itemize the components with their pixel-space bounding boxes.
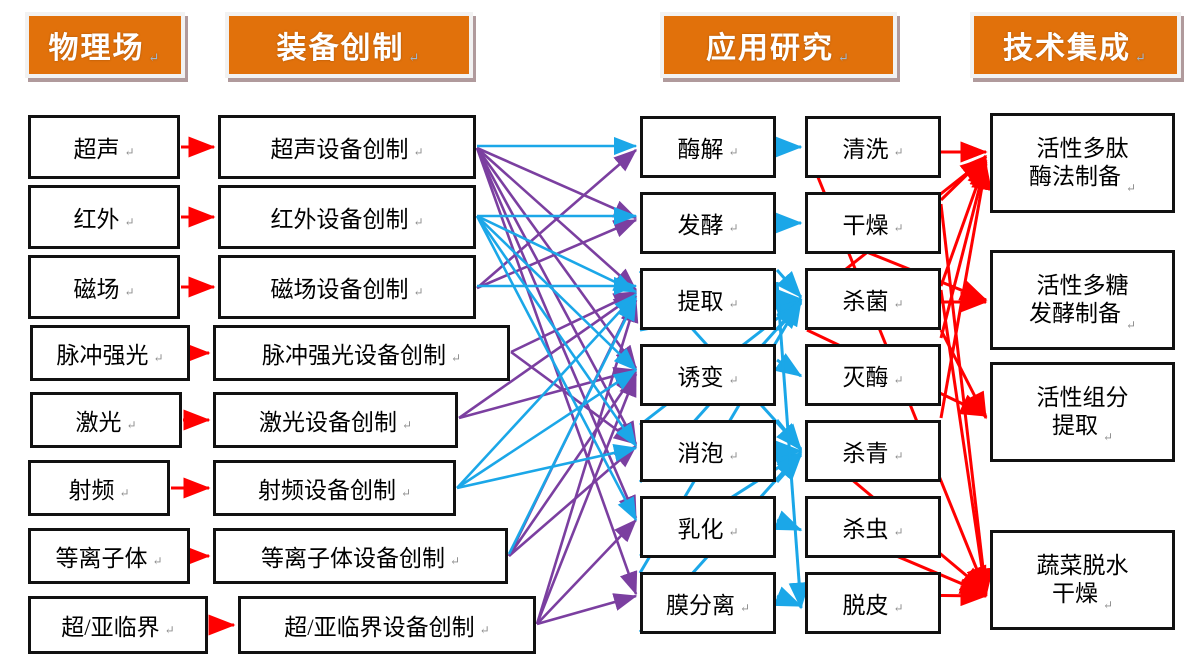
- node-unit-operation[interactable]: 杀青 ↵: [805, 420, 941, 482]
- pilcrow-mark: ↵: [153, 351, 163, 366]
- node-physical-field[interactable]: 脉冲强光 ↵: [30, 325, 190, 381]
- pilcrow-mark: ↵: [728, 145, 738, 160]
- node-application[interactable]: 诱变 ↵: [640, 344, 776, 406]
- pilcrow-mark: ↵: [728, 297, 738, 312]
- header-equipment-creation: 装备创制 ↵: [225, 12, 473, 78]
- node-label: 超/亚临界: [61, 608, 159, 642]
- pilcrow-mark: ↵: [740, 601, 750, 616]
- pilcrow-mark: ↵: [401, 486, 411, 501]
- pilcrow-mark: ↵: [402, 418, 412, 433]
- node-label: 激光设备创制: [259, 403, 397, 437]
- node-label-line2: 发酵制备: [1029, 300, 1121, 328]
- node-equipment-creation[interactable]: 红外设备创制 ↵: [218, 185, 476, 249]
- pilcrow-mark: ↵: [413, 285, 423, 300]
- node-label: 射频: [68, 471, 114, 505]
- node-equipment-creation[interactable]: 激光设备创制 ↵: [213, 392, 458, 448]
- node-label: 磁场: [73, 270, 119, 304]
- node-label: 等离子体设备创制: [261, 539, 445, 573]
- node-physical-field[interactable]: 超声 ↵: [28, 115, 180, 179]
- node-label-line2: 提取: [1052, 412, 1098, 440]
- node-label: 发酵: [677, 206, 723, 240]
- node-equipment-creation[interactable]: 等离子体设备创制 ↵: [213, 528, 508, 584]
- node-label: 灭酶: [842, 358, 888, 392]
- node-physical-field[interactable]: 射频 ↵: [28, 460, 170, 516]
- node-unit-operation[interactable]: 杀菌 ↵: [805, 268, 941, 330]
- node-equipment-creation[interactable]: 超/亚临界设备创制 ↵: [238, 596, 536, 654]
- pilcrow-mark: ↵: [409, 50, 422, 66]
- node-integration[interactable]: 蔬菜脱水 干燥↵: [990, 530, 1175, 630]
- node-label: 脉冲强光: [56, 336, 148, 370]
- pilcrow-mark: ↵: [893, 145, 903, 160]
- pilcrow-mark: ↵: [413, 145, 423, 160]
- node-equipment-creation[interactable]: 脉冲强光设备创制 ↵: [213, 325, 510, 381]
- pilcrow-mark: ↵: [893, 221, 903, 236]
- node-application[interactable]: 酶解 ↵: [640, 116, 776, 178]
- node-label: 磁场设备创制: [270, 270, 408, 304]
- pilcrow-mark: ↵: [1135, 50, 1148, 66]
- node-equipment-creation[interactable]: 超声设备创制 ↵: [218, 115, 476, 179]
- pilcrow-mark: ↵: [165, 623, 175, 638]
- pilcrow-mark: ↵: [124, 285, 134, 300]
- pilcrow-mark: ↵: [1103, 598, 1113, 613]
- header-application-research: 应用研究 ↵: [660, 12, 897, 78]
- pilcrow-mark: ↵: [124, 215, 134, 230]
- node-label: 诱变: [677, 358, 723, 392]
- pilcrow-mark: ↵: [728, 449, 738, 464]
- pilcrow-mark: ↵: [450, 554, 460, 569]
- node-label-line1: 活性组分: [1037, 384, 1129, 412]
- node-unit-operation[interactable]: 干燥 ↵: [805, 192, 941, 254]
- node-unit-operation[interactable]: 杀虫 ↵: [805, 496, 941, 558]
- node-integration[interactable]: 活性多糖 发酵制备↵: [990, 250, 1175, 350]
- pilcrow-mark: ↵: [728, 525, 738, 540]
- pilcrow-mark: ↵: [480, 623, 490, 638]
- pilcrow-mark: ↵: [152, 554, 162, 569]
- header-label: 物理场: [49, 23, 145, 67]
- node-application[interactable]: 发酵 ↵: [640, 192, 776, 254]
- node-unit-operation[interactable]: 清洗 ↵: [805, 116, 941, 178]
- pilcrow-mark: ↵: [149, 50, 162, 66]
- pilcrow-mark: ↵: [728, 373, 738, 388]
- node-application[interactable]: 消泡 ↵: [640, 420, 776, 482]
- diagram-canvas: 物理场 ↵ 装备创制 ↵ 应用研究 ↵ 技术集成 ↵ 超声 ↵ 红外 ↵ 磁场 …: [0, 0, 1204, 672]
- pilcrow-mark: ↵: [893, 601, 903, 616]
- node-label: 红外: [73, 200, 119, 234]
- node-label: 脱皮: [842, 586, 888, 620]
- pilcrow-mark: ↵: [1126, 318, 1136, 333]
- header-label: 技术集成: [1003, 23, 1131, 67]
- node-integration[interactable]: 活性组分 提取↵: [990, 362, 1175, 462]
- node-physical-field[interactable]: 磁场 ↵: [28, 255, 180, 319]
- node-unit-operation[interactable]: 脱皮 ↵: [805, 572, 941, 634]
- node-label: 膜分离: [666, 586, 735, 620]
- node-label: 红外设备创制: [270, 200, 408, 234]
- node-label: 杀青: [842, 434, 888, 468]
- node-equipment-creation[interactable]: 磁场设备创制 ↵: [218, 255, 476, 319]
- node-application[interactable]: 提取 ↵: [640, 268, 776, 330]
- node-physical-field[interactable]: 激光 ↵: [30, 392, 182, 448]
- node-label: 杀菌: [842, 282, 888, 316]
- pilcrow-mark: ↵: [838, 50, 851, 66]
- pilcrow-mark: ↵: [124, 145, 134, 160]
- node-label: 清洗: [842, 130, 888, 164]
- node-label: 干燥: [842, 206, 888, 240]
- pilcrow-mark: ↵: [119, 486, 129, 501]
- node-label: 脉冲强光设备创制: [262, 336, 446, 370]
- node-label: 射频设备创制: [258, 471, 396, 505]
- pilcrow-mark: ↵: [893, 373, 903, 388]
- node-label-line1: 活性多糖: [1037, 272, 1129, 300]
- node-label: 超声设备创制: [270, 130, 408, 164]
- node-label: 超/亚临界设备创制: [284, 608, 474, 642]
- node-label: 乳化: [677, 510, 723, 544]
- pilcrow-mark: ↵: [728, 221, 738, 236]
- pilcrow-mark: ↵: [893, 449, 903, 464]
- pilcrow-mark: ↵: [1126, 181, 1136, 196]
- node-label: 激光: [75, 403, 121, 437]
- node-label-line2: 酶法制备: [1029, 163, 1121, 191]
- node-label-line2: 干燥: [1052, 580, 1098, 608]
- node-label: 消泡: [677, 434, 723, 468]
- pilcrow-mark: ↵: [126, 418, 136, 433]
- node-integration[interactable]: 活性多肽 酶法制备↵: [990, 113, 1175, 213]
- pilcrow-mark: ↵: [1103, 430, 1113, 445]
- pilcrow-mark: ↵: [413, 215, 423, 230]
- node-physical-field[interactable]: 等离子体 ↵: [28, 528, 190, 584]
- node-label: 酶解: [677, 130, 723, 164]
- header-physical-field: 物理场 ↵: [25, 12, 185, 78]
- node-label: 等离子体: [55, 539, 147, 573]
- node-application[interactable]: 膜分离 ↵: [640, 572, 776, 634]
- node-physical-field[interactable]: 红外 ↵: [28, 185, 180, 249]
- node-application[interactable]: 乳化 ↵: [640, 496, 776, 558]
- pilcrow-mark: ↵: [893, 525, 903, 540]
- pilcrow-mark: ↵: [893, 297, 903, 312]
- node-equipment-creation[interactable]: 射频设备创制 ↵: [213, 460, 456, 516]
- header-label: 应用研究: [706, 23, 834, 67]
- node-label-line1: 活性多肽: [1037, 135, 1129, 163]
- pilcrow-mark: ↵: [451, 351, 461, 366]
- node-label: 超声: [73, 130, 119, 164]
- header-label: 装备创制: [277, 23, 405, 67]
- header-technology-integration: 技术集成 ↵: [970, 12, 1181, 78]
- node-label: 杀虫: [842, 510, 888, 544]
- node-physical-field[interactable]: 超/亚临界 ↵: [28, 596, 208, 654]
- node-unit-operation[interactable]: 灭酶 ↵: [805, 344, 941, 406]
- node-label: 提取: [677, 282, 723, 316]
- node-label-line1: 蔬菜脱水: [1037, 552, 1129, 580]
